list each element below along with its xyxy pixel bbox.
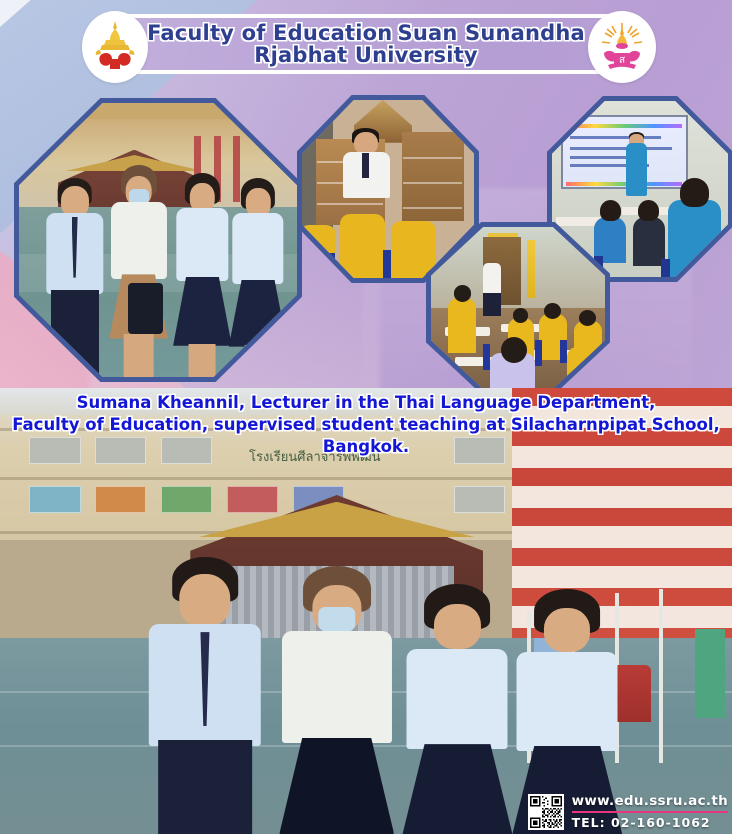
hero-person-white-blouse	[278, 566, 395, 834]
collage-photo-group-schoolyard	[14, 98, 302, 382]
telephone-number: TEL: 02-160-1062	[572, 815, 728, 830]
header-title-stack: Faculty of Education Suan Sunandha Rjabh…	[108, 22, 624, 66]
website-url[interactable]: www.edu.ssru.ac.th	[572, 793, 728, 809]
poster: Faculty of Education Suan Sunandha Rjabh…	[0, 0, 732, 834]
page-title-line-1: Faculty of Education	[147, 21, 392, 45]
header-title-band: Faculty of Education Suan Sunandha Rjabh…	[108, 14, 624, 74]
footer-text-stack: www.edu.ssru.ac.th TEL: 02-160-1062	[572, 793, 728, 830]
hero-person-student-a	[403, 584, 513, 834]
footer-contact: www.edu.ssru.ac.th TEL: 02-160-1062	[528, 793, 728, 830]
ssru-emblem-logo: ส	[588, 11, 656, 83]
caption-block: Sumana Kheannil, Lecturer in the Thai La…	[0, 392, 732, 457]
hero-person-male	[146, 557, 263, 834]
caption-line-1: Sumana Kheannil, Lecturer in the Thai La…	[0, 392, 732, 414]
caption-line-2: Faculty of Education, supervised student…	[0, 414, 732, 458]
qr-code[interactable]	[528, 794, 564, 830]
footer-divider	[572, 811, 728, 813]
ssru-crown-logo	[82, 11, 148, 83]
